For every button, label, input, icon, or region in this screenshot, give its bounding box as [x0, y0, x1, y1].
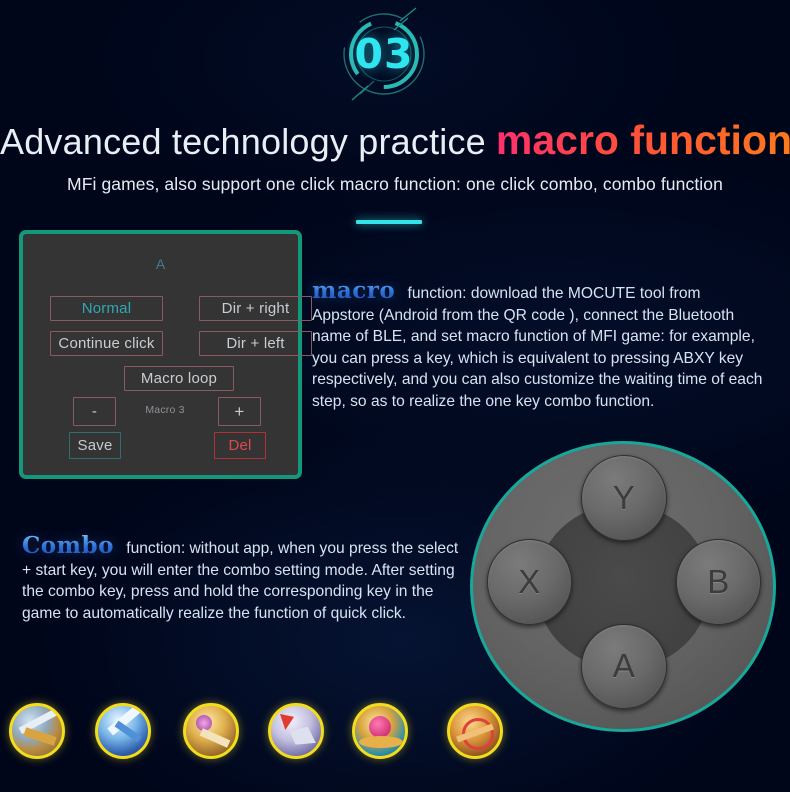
skill-icon-4-flame [280, 714, 294, 730]
macro-count-label: Macro 3 [125, 404, 205, 416]
page-title: Advanced technology practicemacro functi… [0, 117, 790, 164]
mode-button-macro-loop[interactable]: Macro loop [124, 366, 234, 391]
gamepad-button-x[interactable]: X [487, 539, 573, 625]
gamepad-abxy-cluster: Y X B A [470, 441, 776, 732]
decrement-button[interactable]: - [73, 397, 116, 426]
skill-icon-2[interactable] [95, 703, 151, 759]
skill-icon-5[interactable] [352, 703, 408, 759]
skill-icon-5-orb [369, 716, 391, 738]
gamepad-button-a[interactable]: A [581, 624, 667, 710]
skill-icon-3[interactable] [183, 703, 239, 759]
mode-button-dir-left[interactable]: Dir + left [199, 331, 312, 356]
page-subtitle: MFi games, also support one click macro … [0, 174, 790, 195]
mode-button-dir-right[interactable]: Dir + right [199, 296, 312, 321]
skill-icon-4[interactable] [268, 703, 324, 759]
skill-icon-1[interactable] [9, 703, 65, 759]
macro-lead-word: macro [312, 277, 403, 304]
skill-icon-3-hilt [200, 728, 231, 748]
skill-icon-2-streak [115, 721, 142, 743]
panel-key-label: A [23, 256, 298, 272]
gamepad-ring: Y X B A [470, 441, 776, 732]
skill-icon-6[interactable] [447, 703, 503, 759]
macro-settings-panel: A Normal Dir + right Continue click Dir … [19, 230, 302, 479]
skill-icon-1-bar [23, 727, 56, 745]
title-divider [356, 220, 422, 224]
mode-button-normal[interactable]: Normal [50, 296, 163, 321]
gamepad-button-b[interactable]: B [676, 539, 762, 625]
page-title-plain: Advanced technology practice [0, 121, 486, 162]
gamepad-button-y[interactable]: Y [581, 455, 667, 541]
skill-icon-5-base [359, 736, 403, 748]
combo-description: Combo function: without app, when you pr… [22, 535, 462, 624]
step-badge: 03 [334, 4, 434, 104]
mode-button-continue-click[interactable]: Continue click [50, 331, 163, 356]
increment-button[interactable]: + [218, 397, 261, 426]
step-number: 03 [334, 4, 434, 104]
macro-description: macro function: download the MOCUTE tool… [312, 280, 764, 412]
skill-icon-row [0, 703, 790, 763]
delete-button[interactable]: Del [214, 432, 266, 459]
combo-lead-word: Combo [22, 532, 122, 559]
save-button[interactable]: Save [69, 432, 121, 459]
skill-icon-4-crystal [287, 723, 319, 748]
page-title-accent: macro function [496, 117, 790, 163]
